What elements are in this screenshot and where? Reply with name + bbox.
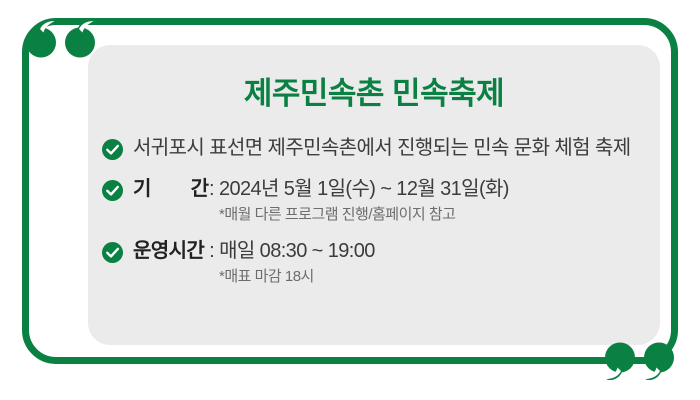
check-circle-icon [102, 180, 123, 201]
period-label: 기간 [133, 175, 209, 204]
list-item-body: 서귀포시 표선면 제주민속촌에서 진행되는 민속 문화 체험 축제 [133, 134, 660, 163]
period-subnote: *매월 다른 프로그램 진행/홈페이지 참고 [133, 204, 660, 225]
list-item-text: 운영시간 : 매일 08:30 ~ 19:00 [133, 240, 375, 262]
list-item: 기간: 2024년 5월 1일(수) ~ 12월 31일(화) *매월 다른 프… [88, 175, 660, 225]
page-title: 제주민속촌 민속축제 [88, 45, 660, 112]
description-value: 서귀포시 표선면 제주민속촌에서 진행되는 민속 문화 체험 축제 [133, 137, 631, 159]
list-item-text: 서귀포시 표선면 제주민속촌에서 진행되는 민속 문화 체험 축제 [133, 137, 631, 159]
hours-separator: : [209, 240, 214, 262]
hours-subnote: *매표 마감 18시 [133, 266, 660, 287]
list-item-text: 기간: 2024년 5월 1일(수) ~ 12월 31일(화) [133, 178, 509, 200]
list-item: 운영시간 : 매일 08:30 ~ 19:00 *매표 마감 18시 [88, 237, 660, 287]
spacer [88, 166, 660, 175]
period-label-char-2: 간 [191, 175, 209, 204]
quote-close-icon [605, 342, 674, 380]
check-circle-icon [102, 242, 123, 263]
period-separator: : [209, 178, 214, 200]
spacer [88, 228, 660, 237]
list-item: 서귀포시 표선면 제주민속촌에서 진행되는 민속 문화 체험 축제 [88, 134, 660, 163]
hours-value: 매일 08:30 ~ 19:00 [219, 240, 375, 262]
hours-label: 운영시간 [133, 237, 204, 266]
quote-open-icon [26, 20, 95, 58]
period-value: 2024년 5월 1일(수) ~ 12월 31일(화) [219, 178, 509, 200]
period-label-char-1: 기 [133, 175, 151, 204]
card-content: 제주민속촌 민속축제 서귀포시 표선면 제주민속촌에서 진행되는 민속 문화 체… [88, 45, 660, 345]
list-item-body: 기간: 2024년 5월 1일(수) ~ 12월 31일(화) *매월 다른 프… [133, 175, 660, 225]
festival-info-card: 제주민속촌 민속축제 서귀포시 표선면 제주민속촌에서 진행되는 민속 문화 체… [0, 0, 700, 400]
list-item-body: 운영시간 : 매일 08:30 ~ 19:00 *매표 마감 18시 [133, 237, 660, 287]
check-circle-icon [102, 139, 123, 160]
info-list: 서귀포시 표선면 제주민속촌에서 진행되는 민속 문화 체험 축제 기간: 20 [88, 112, 660, 287]
